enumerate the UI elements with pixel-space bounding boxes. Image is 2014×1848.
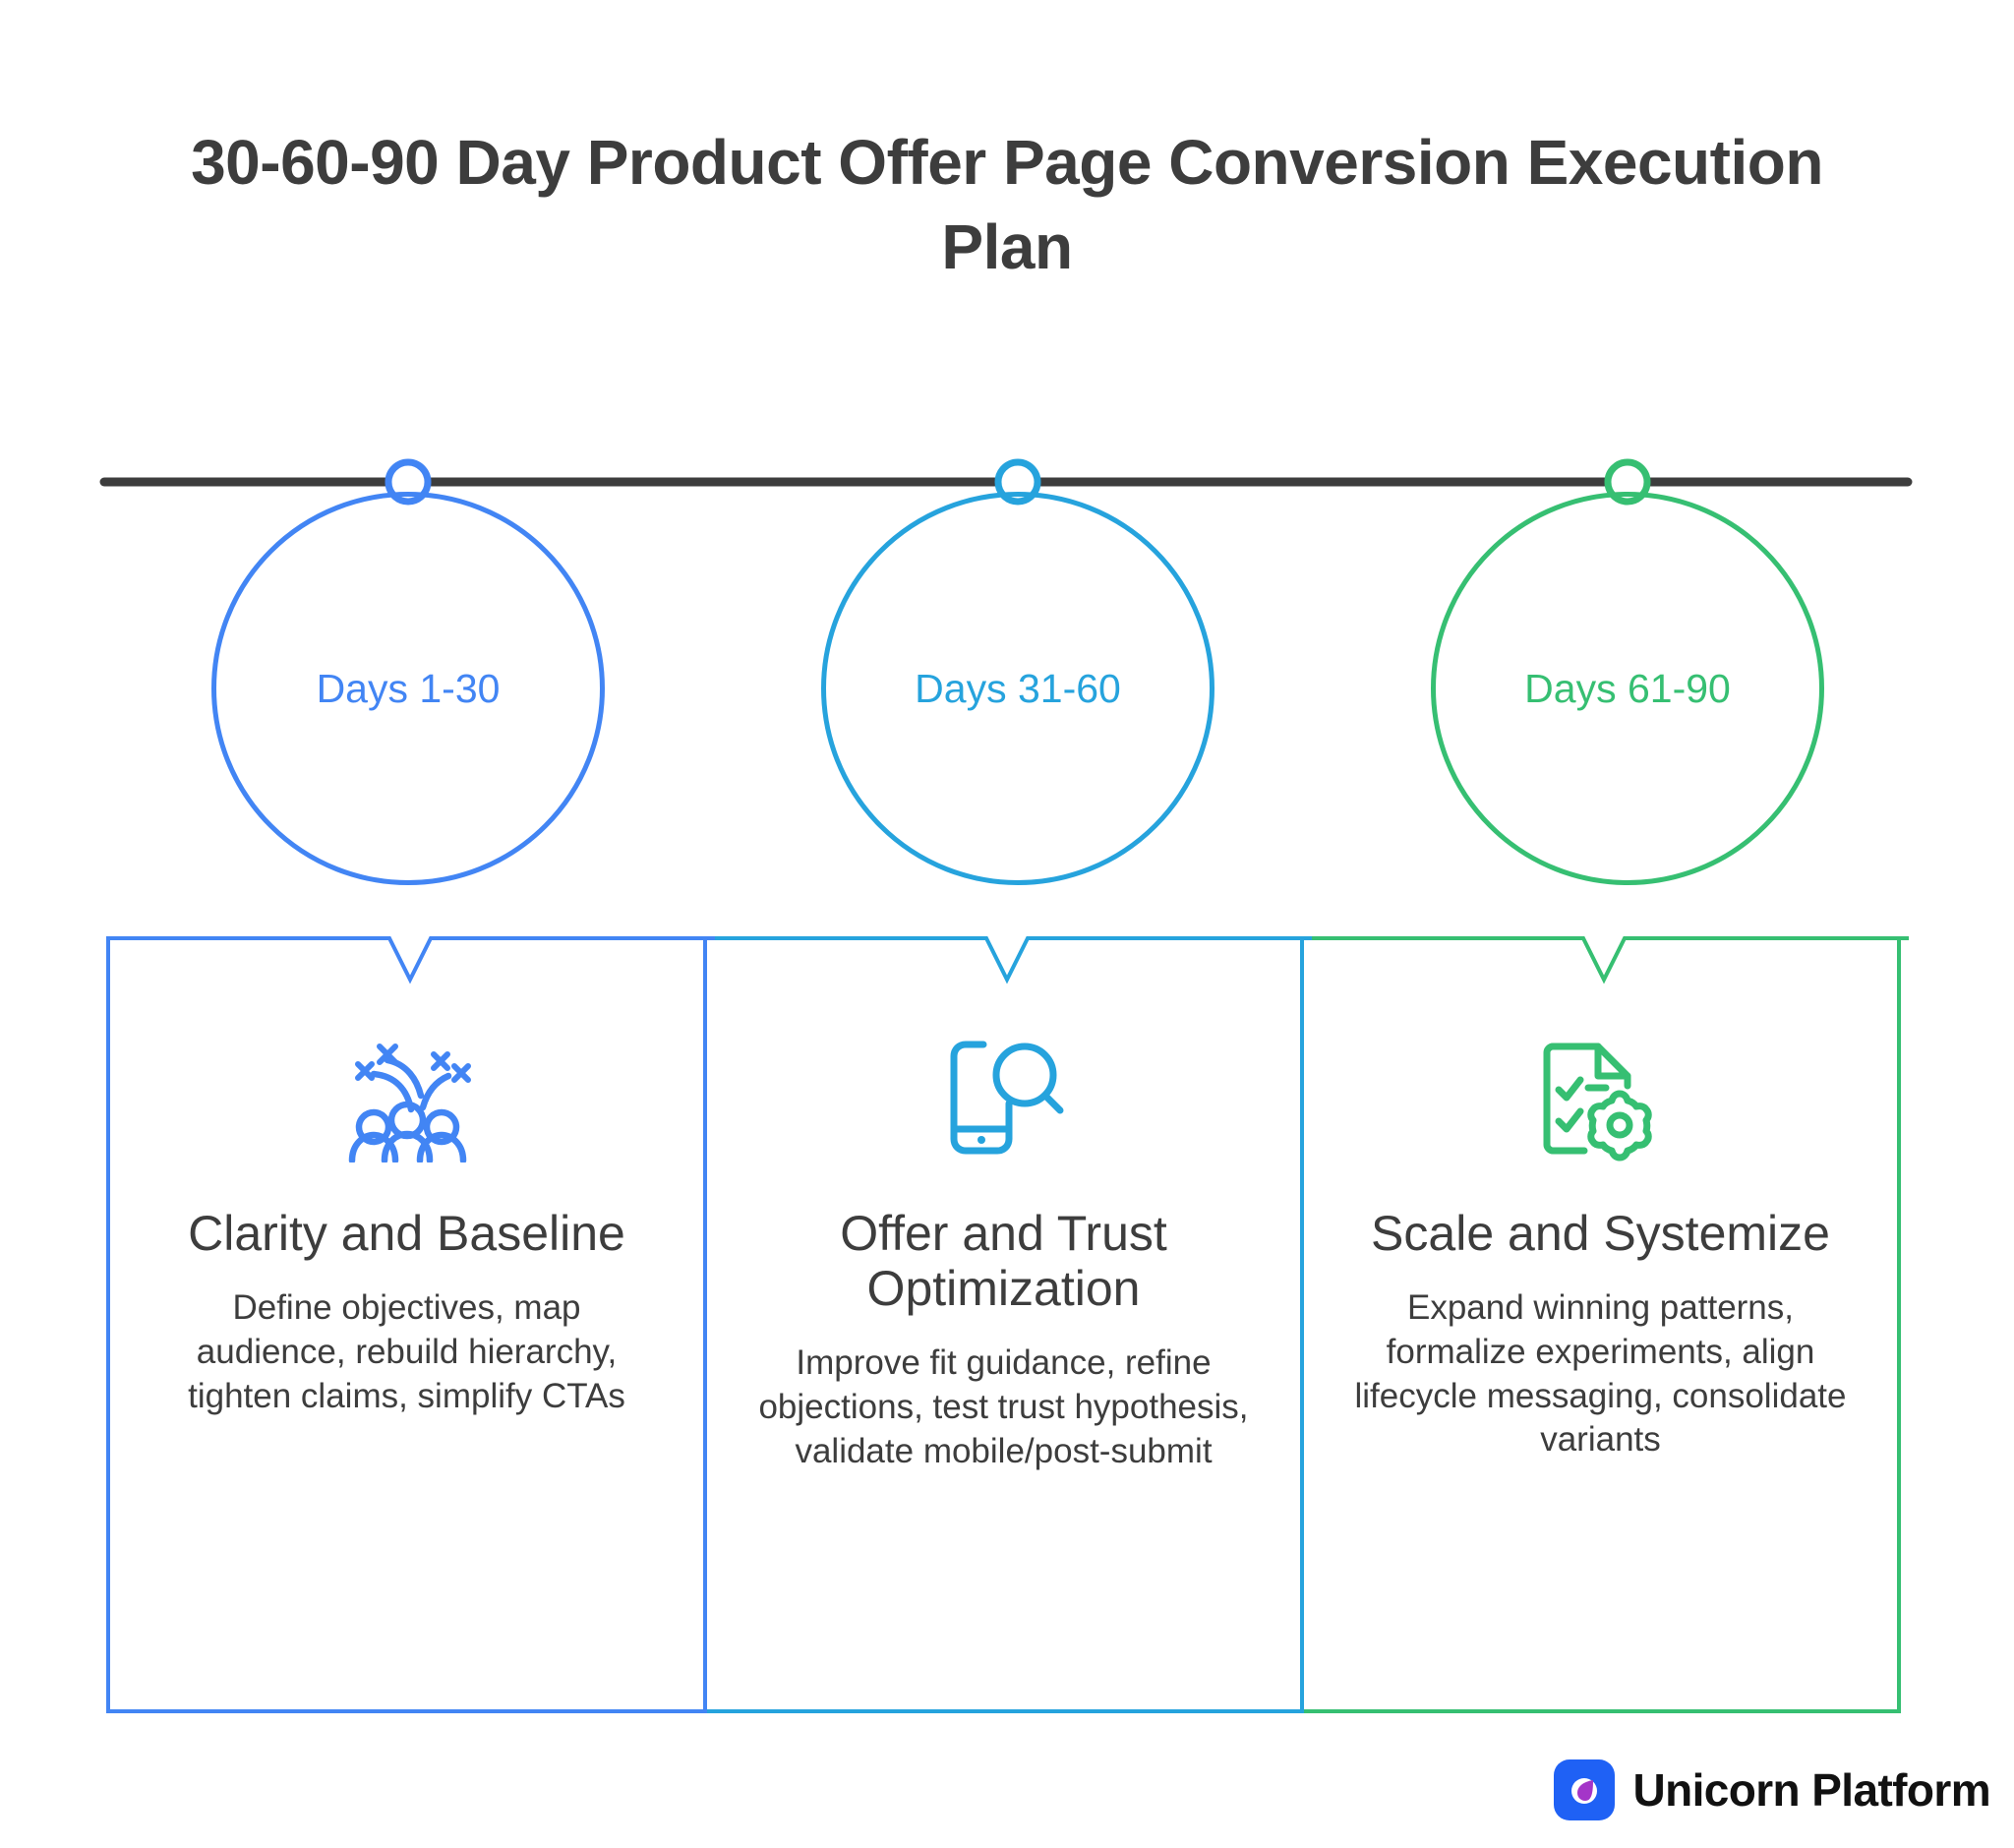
phase-circle-3: Days 61-90 bbox=[1431, 492, 1824, 885]
brand-name: Unicorn Platform bbox=[1632, 1767, 1990, 1813]
mobile-search-icon bbox=[750, 1025, 1257, 1172]
card-top-border-notch-3 bbox=[1300, 923, 1909, 991]
brand-logo: Unicorn Platform bbox=[1554, 1759, 1990, 1820]
infographic-page: 30-60-90 Day Product Offer Page Conversi… bbox=[0, 0, 2014, 1848]
crowd-celebration-icon bbox=[153, 1025, 660, 1172]
phase-period-label-1: Days 1-30 bbox=[317, 669, 501, 709]
phase-circle-2: Days 31-60 bbox=[821, 492, 1214, 885]
phase-heading-1: Clarity and Baseline bbox=[153, 1206, 660, 1261]
card-top-border-notch-1 bbox=[106, 923, 715, 991]
phase-card-1[interactable]: Clarity and Baseline Define objectives, … bbox=[106, 936, 707, 1713]
unicorn-platform-logo-icon bbox=[1554, 1759, 1615, 1820]
phase-heading-2: Offer and Trust Optimization bbox=[750, 1206, 1257, 1316]
phase-body-2: Improve fit guidance, refine objections,… bbox=[750, 1341, 1257, 1473]
phase-card-2[interactable]: Offer and Trust Optimization Improve fit… bbox=[703, 936, 1304, 1713]
phase-card-group: Clarity and Baseline Define objectives, … bbox=[106, 936, 1908, 1713]
document-checklist-gear-icon bbox=[1347, 1025, 1854, 1172]
phase-body-3: Expand winning patterns, formalize exper… bbox=[1347, 1286, 1854, 1462]
phase-heading-3: Scale and Systemize bbox=[1347, 1206, 1854, 1261]
phase-period-label-2: Days 31-60 bbox=[915, 669, 1121, 709]
phase-body-1: Define objectives, map audience, rebuild… bbox=[153, 1286, 660, 1418]
phase-card-3[interactable]: Scale and Systemize Expand winning patte… bbox=[1300, 936, 1901, 1713]
card-top-border-notch-2 bbox=[703, 923, 1312, 991]
phase-circle-1: Days 1-30 bbox=[211, 492, 605, 885]
phase-period-label-3: Days 61-90 bbox=[1524, 669, 1731, 709]
